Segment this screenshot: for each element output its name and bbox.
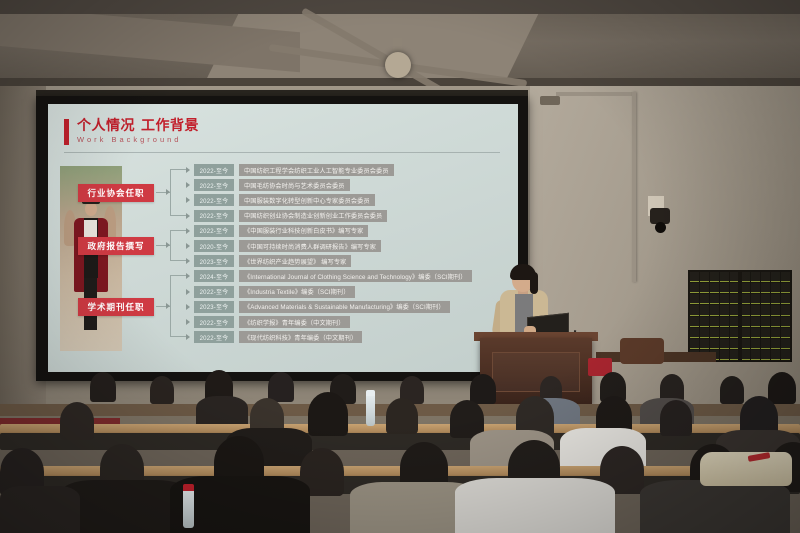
wall-camera-lens xyxy=(655,222,666,233)
timeline-row-year: 2024-至今 xyxy=(194,270,234,282)
bracket-horizontal xyxy=(170,260,186,261)
bottle-cap xyxy=(183,484,194,491)
timeline-row: 2022-至今《现代纺织科技》青年编委（中文期刊） xyxy=(194,331,362,343)
key-slot xyxy=(781,328,790,338)
key-slot xyxy=(700,317,709,327)
bottle-cap xyxy=(366,390,375,396)
jacket-on-desk xyxy=(700,452,792,486)
timeline-row-text: 《世界纺织产业趋势展望》 编写专家 xyxy=(239,255,351,267)
timeline-row: 2024-至今《International Journal of Clothin… xyxy=(194,270,472,282)
slide-title-primary: 个人情况 xyxy=(77,117,135,133)
key-slot xyxy=(710,272,719,282)
key-slot xyxy=(710,328,719,338)
slide-title-english: Work Background xyxy=(77,136,199,144)
key-slot xyxy=(700,305,709,315)
key-slot xyxy=(730,317,739,327)
timeline-row-year: 2022-至今 xyxy=(194,286,234,298)
timeline-row-year: 2022-至今 xyxy=(194,316,234,328)
slide-title: 个人情况工作背景 xyxy=(77,118,199,132)
timeline-row: 2022-至今中国毛纺协会时尚与艺术委员会委员 xyxy=(194,179,350,191)
ceiling-fan-icon xyxy=(385,52,411,78)
key-slot xyxy=(730,305,739,315)
timeline-row-year: 2020-至今 xyxy=(194,240,234,252)
key-slot xyxy=(720,305,729,315)
wall-vent xyxy=(540,96,560,105)
timeline-row-year: 2022-至今 xyxy=(194,225,234,237)
timeline-row-text: 中国纺织工程学会纺织工业人工智能专业委员会委员 xyxy=(239,164,394,176)
key-slot xyxy=(720,328,729,338)
key-board-right-half xyxy=(742,272,791,360)
bracket-vertical xyxy=(170,230,171,260)
audience-torso xyxy=(0,486,80,533)
row-arrow-icon xyxy=(186,334,190,340)
key-slot xyxy=(742,339,751,349)
bracket-vertical xyxy=(170,169,171,215)
key-slot xyxy=(751,317,760,327)
key-slot xyxy=(700,294,709,304)
key-board-left-half xyxy=(690,272,739,360)
key-slot xyxy=(751,294,760,304)
presenter-hair-side xyxy=(530,272,538,294)
key-slot xyxy=(710,294,719,304)
water-bottle xyxy=(366,392,375,426)
career-timeline-diagram: 2022-至今中国纺织工程学会纺织工业人工智能专业委员会委员2022-至今中国毛… xyxy=(126,162,506,358)
timeline-row-text: 《Industria Textile》编委（SCI期刊） xyxy=(239,286,355,298)
ceiling-edge-top xyxy=(0,0,800,14)
key-slot xyxy=(742,283,751,293)
row-arrow-icon xyxy=(186,197,190,203)
timeline-row-text: 《现代纺织科技》青年编委（中文期刊） xyxy=(239,331,362,343)
key-slot xyxy=(761,305,770,315)
timeline-row-year: 2022-至今 xyxy=(194,210,234,222)
timeline-row: 2023-至今《世界纺织产业趋势展望》 编写专家 xyxy=(194,255,351,267)
key-slot xyxy=(751,328,760,338)
category-arrow-icon xyxy=(166,189,170,195)
key-slot xyxy=(781,339,790,349)
timeline-row-year: 2022-至今 xyxy=(194,164,234,176)
key-slot xyxy=(742,328,751,338)
key-slot xyxy=(761,317,770,327)
timeline-row-year: 2022-至今 xyxy=(194,179,234,191)
key-slot xyxy=(761,294,770,304)
key-slot xyxy=(761,328,770,338)
key-slot xyxy=(761,272,770,282)
conduit-vertical xyxy=(632,92,636,282)
key-slot xyxy=(690,294,699,304)
header-divider xyxy=(64,152,500,153)
timeline-row-text: 中国服装数字化转型创新中心专家委员会委员 xyxy=(239,194,375,206)
row-arrow-icon xyxy=(186,182,190,188)
key-slot xyxy=(710,317,719,327)
timeline-row-text: 中国毛纺协会时尚与艺术委员会委员 xyxy=(239,179,350,191)
row-arrow-icon xyxy=(186,319,190,325)
key-slot xyxy=(690,317,699,327)
key-slot xyxy=(742,272,751,282)
key-slot xyxy=(761,350,770,360)
timeline-row-text: 中国纺织创业协会制造业创新创业工作委员会委员 xyxy=(239,210,387,222)
timeline-row-year: 2023-至今 xyxy=(194,301,234,313)
timeline-row: 2022-至今《中国服装行业科技创新白皮书》编写专家 xyxy=(194,225,368,237)
audience-head xyxy=(308,392,348,436)
key-slot xyxy=(751,272,760,282)
key-slot xyxy=(730,350,739,360)
bracket-horizontal xyxy=(170,215,186,216)
conduit-horizontal xyxy=(556,92,636,96)
key-slot xyxy=(742,350,751,360)
audience-head xyxy=(470,374,496,404)
row-arrow-icon xyxy=(186,273,190,279)
bracket-horizontal xyxy=(170,230,186,231)
key-slot xyxy=(771,272,780,282)
key-slot xyxy=(690,305,699,315)
timeline-row: 2022-至今《Industria Textile》编委（SCI期刊） xyxy=(194,286,355,298)
audience-torso xyxy=(455,478,615,533)
key-slot xyxy=(690,328,699,338)
category-label-2: 学术期刊任职 xyxy=(78,298,154,316)
key-slot xyxy=(771,305,780,315)
audience-head xyxy=(60,402,94,440)
key-slot xyxy=(761,283,770,293)
timeline-row: 2022-至今中国纺织工程学会纺织工业人工智能专业委员会委员 xyxy=(194,164,394,176)
water-bottle xyxy=(183,488,194,528)
bracket-vertical xyxy=(170,275,171,336)
key-slot xyxy=(761,339,770,349)
audience-head xyxy=(720,376,744,404)
timeline-row: 2022-至今中国服装数字化转型创新中心专家委员会委员 xyxy=(194,194,375,206)
key-slot xyxy=(781,283,790,293)
presentation-slide: 个人情况工作背景 Work Background 2022-至今中国纺织工程学会… xyxy=(48,104,518,372)
key-storage-board xyxy=(688,270,792,362)
background-chair xyxy=(620,338,664,364)
key-slot xyxy=(751,350,760,360)
row-arrow-icon xyxy=(186,289,190,295)
key-slot xyxy=(771,339,780,349)
audience-head xyxy=(660,400,692,436)
audience-head xyxy=(90,372,116,402)
row-arrow-icon xyxy=(186,258,190,264)
timeline-row-year: 2022-至今 xyxy=(194,331,234,343)
key-slot xyxy=(781,350,790,360)
key-slot xyxy=(781,272,790,282)
key-slot xyxy=(742,317,751,327)
key-slot xyxy=(771,328,780,338)
timeline-row: 2020-至今《中国可持续时尚消费人群调研报告》编写专家 xyxy=(194,240,381,252)
category-arrow-icon xyxy=(166,242,170,248)
key-slot xyxy=(751,305,760,315)
category-label-1: 政府报告撰写 xyxy=(78,237,154,255)
timeline-row: 2022-至今中国纺织创业协会制造业创新创业工作委员会委员 xyxy=(194,210,387,222)
key-slot xyxy=(710,339,719,349)
audience-head xyxy=(268,372,294,402)
key-slot xyxy=(710,283,719,293)
row-arrow-icon xyxy=(186,243,190,249)
key-slot xyxy=(751,283,760,293)
key-slot xyxy=(690,272,699,282)
key-slot xyxy=(742,294,751,304)
key-slot xyxy=(751,339,760,349)
key-slot xyxy=(730,272,739,282)
key-slot xyxy=(781,305,790,315)
lecture-hall-photo: 个人情况工作背景 Work Background 2022-至今中国纺织工程学会… xyxy=(0,0,800,533)
row-arrow-icon xyxy=(186,304,190,310)
key-slot xyxy=(720,317,729,327)
key-slot xyxy=(700,283,709,293)
slide-header: 个人情况工作背景 Work Background xyxy=(64,118,199,145)
audience-head xyxy=(150,376,174,404)
timeline-row-text: 《纺织学报》青年编委（中文期刊） xyxy=(239,316,350,328)
bracket-horizontal xyxy=(170,336,186,337)
key-slot xyxy=(720,283,729,293)
key-slot xyxy=(781,317,790,327)
key-slot xyxy=(700,272,709,282)
slide-title-secondary: 工作背景 xyxy=(141,117,199,133)
timeline-row-text: 《Advanced Materials & Sustainable Manufa… xyxy=(239,301,450,313)
key-slot xyxy=(771,294,780,304)
key-slot xyxy=(730,328,739,338)
audience-torso xyxy=(640,480,790,533)
audience-head xyxy=(768,372,796,404)
category-arrow-icon xyxy=(166,303,170,309)
timeline-row: 2023-至今《Advanced Materials & Sustainable… xyxy=(194,301,450,313)
key-slot xyxy=(771,317,780,327)
key-slot xyxy=(730,283,739,293)
timeline-row-text: 《International Journal of Clothing Scien… xyxy=(239,270,472,282)
key-slot xyxy=(771,283,780,293)
header-accent-bar xyxy=(64,119,69,145)
key-slot xyxy=(720,294,729,304)
key-slot xyxy=(720,272,729,282)
key-slot xyxy=(730,294,739,304)
row-arrow-icon xyxy=(186,228,190,234)
key-slot xyxy=(690,283,699,293)
bracket-horizontal xyxy=(170,275,186,276)
key-slot xyxy=(690,339,699,349)
category-label-0: 行业协会任职 xyxy=(78,184,154,202)
timeline-row-text: 《中国服装行业科技创新白皮书》编写专家 xyxy=(239,225,368,237)
key-slot xyxy=(730,339,739,349)
timeline-row: 2022-至今《纺织学报》青年编委（中文期刊） xyxy=(194,316,350,328)
timeline-row-text: 《中国可持续时尚消费人群调研报告》编写专家 xyxy=(239,240,381,252)
photo-head xyxy=(85,202,97,216)
row-arrow-icon xyxy=(186,167,190,173)
row-arrow-icon xyxy=(186,213,190,219)
timeline-row-year: 2022-至今 xyxy=(194,194,234,206)
key-slot xyxy=(720,339,729,349)
audience-shoulders xyxy=(196,396,248,426)
key-slot xyxy=(742,305,751,315)
key-slot xyxy=(720,350,729,360)
key-slot xyxy=(781,294,790,304)
bracket-horizontal xyxy=(170,169,186,170)
key-slot xyxy=(700,328,709,338)
key-slot xyxy=(700,339,709,349)
key-slot xyxy=(771,350,780,360)
audience-head xyxy=(386,398,418,434)
podium-front-panel xyxy=(492,352,580,392)
key-slot xyxy=(710,305,719,315)
timeline-row-year: 2023-至今 xyxy=(194,255,234,267)
